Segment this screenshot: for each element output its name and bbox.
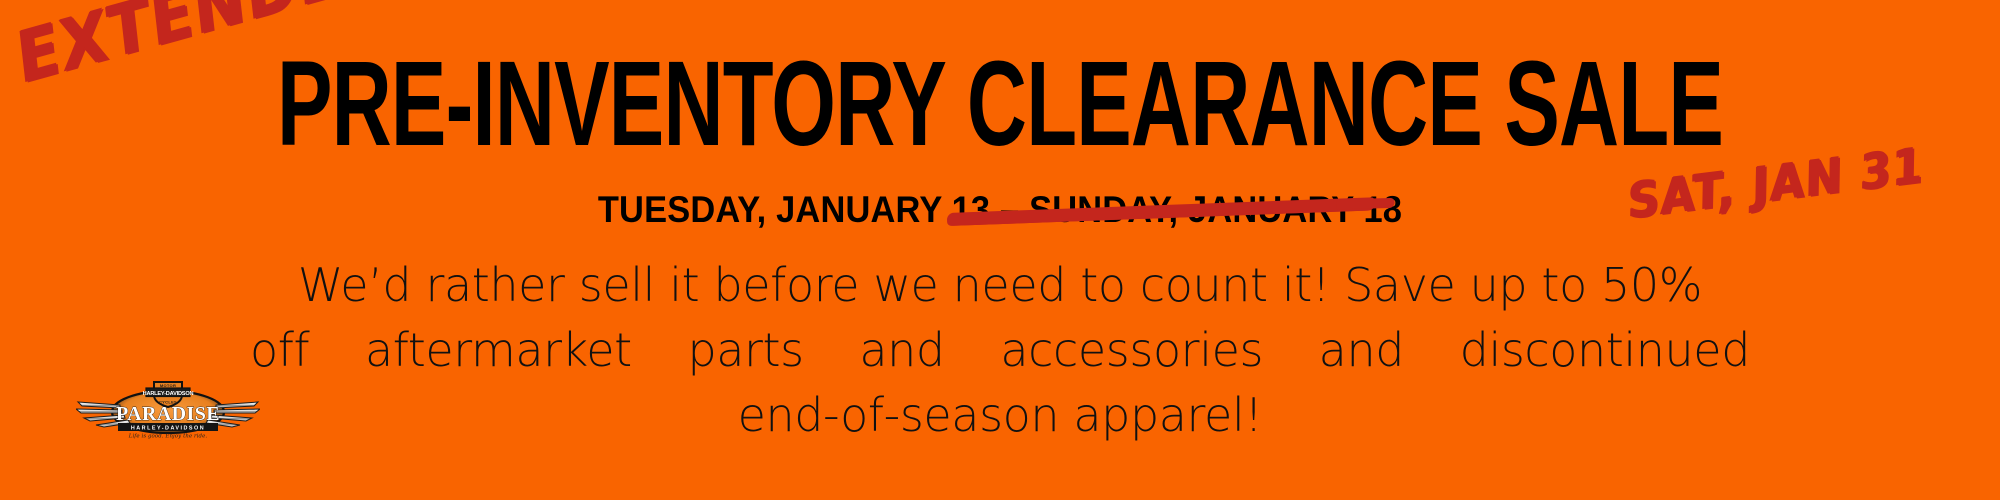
paradise-harley-davidson-logo: HARLEY-DAVIDSON MOTOR CYCLES PARADISE HA… [76, 378, 260, 440]
promo-line-3: end-of-season apparel! [250, 383, 1750, 448]
bar-and-shield-brand-text: HARLEY-DAVIDSON [143, 391, 194, 397]
promo-line-2: off aftermarket parts and accessories an… [250, 318, 1750, 383]
logo-dealer-name: PARADISE [116, 403, 220, 425]
promo-description: We’d rather sell it before we need to co… [250, 253, 1750, 448]
clearance-sale-banner: PRE-INVENTORY CLEARANCE SALE TUESDAY, JA… [0, 0, 2000, 500]
bar-and-shield-top-text: MOTOR [160, 383, 176, 388]
page-title: PRE-INVENTORY CLEARANCE SALE [200, 44, 1800, 165]
logo-brand-name: HARLEY-DAVIDSON [131, 426, 205, 432]
logo-tagline: Life is good. Enjoy the ride. [128, 434, 208, 440]
sale-start-date: TUESDAY, JANUARY 13 [598, 189, 990, 230]
promo-line-1: We’d rather sell it before we need to co… [250, 253, 1750, 318]
logo-artwork: HARLEY-DAVIDSON MOTOR CYCLES PARADISE HA… [76, 378, 260, 440]
